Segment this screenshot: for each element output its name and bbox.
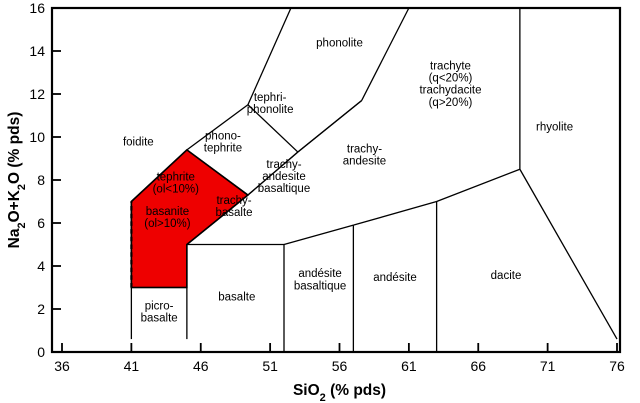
y-tick-label-0: 0 <box>37 344 45 360</box>
field-label-basanite: basanite(ol>10%) <box>144 206 191 230</box>
field-label-tephri-phonolite: tephri-phonolite <box>247 92 294 116</box>
field-label-trachyte-trachydacite: trachyte(q<20%)trachydacite(q>20%) <box>419 60 481 109</box>
field-label-tephrite: tephrite(ol<10%) <box>153 171 200 195</box>
boundary-foidite-phonolite <box>248 8 291 105</box>
x-tick-label-61: 61 <box>401 358 417 374</box>
plot-frame-layer <box>52 8 620 352</box>
x-tick-label-56: 56 <box>332 358 348 374</box>
y-axis-title: Na2O+K2O (% pds) <box>6 112 28 249</box>
x-tick-label-51: 51 <box>262 358 278 374</box>
x-tick-label-46: 46 <box>193 358 209 374</box>
y-tick-label-2: 2 <box>37 301 45 317</box>
x-tick-label-36: 36 <box>54 358 70 374</box>
y-tick-label-4: 4 <box>37 258 45 274</box>
tas-diagram-canvas: 3641465156616671760246810121416 foiditep… <box>0 0 640 403</box>
x-tick-label-41: 41 <box>124 358 140 374</box>
field-label-basalte: basalte <box>218 291 255 303</box>
field-label-foidite: foidite <box>123 137 154 149</box>
tas-diagram: 3641465156616671760246810121416 foiditep… <box>0 0 640 403</box>
field-label-phono-tephrite: phono-tephrite <box>204 131 242 155</box>
axis-tick-label-layer: 3641465156616671760246810121416 <box>29 0 625 374</box>
field-label-andesite: andésite <box>373 272 416 284</box>
field-label-phonolite: phonolite <box>316 38 363 50</box>
field-label-layer: foiditephonolitetephri-phonolitephono-te… <box>123 38 573 325</box>
field-label-rhyolite: rhyolite <box>536 122 573 134</box>
axis-tick-layer <box>52 8 617 352</box>
plot-frame <box>52 8 620 352</box>
field-label-dacite: dacite <box>491 270 522 282</box>
boundary-trachy-andesite-right <box>353 202 436 226</box>
field-label-picro-basalte: picro-basalte <box>141 300 178 324</box>
x-tick-label-71: 71 <box>540 358 556 374</box>
boundary-trachyte-lower <box>437 169 520 201</box>
boundary-rhyolite-dacite <box>520 169 617 339</box>
x-tick-label-76: 76 <box>609 358 625 374</box>
y-tick-label-14: 14 <box>29 43 45 59</box>
boundary-phonolite-lower-right <box>362 8 409 100</box>
y-tick-label-10: 10 <box>29 129 45 145</box>
y-tick-label-12: 12 <box>29 86 45 102</box>
boundary-trachy-and-bas-right <box>284 225 353 244</box>
field-label-andesite-basaltique: andésitebasaltique <box>294 268 346 292</box>
field-label-trachy-basalte: trachy-basalte <box>216 195 253 219</box>
field-label-trachy-andesite: trachy-andesite <box>343 143 386 167</box>
y-tick-label-8: 8 <box>37 172 45 188</box>
x-axis-title: SiO2 (% pds) <box>293 382 386 403</box>
field-label-trachy-andesite-basaltique: trachy-andesitebasaltique <box>258 159 310 195</box>
y-tick-label-16: 16 <box>29 0 45 16</box>
x-tick-label-66: 66 <box>470 358 486 374</box>
y-tick-label-6: 6 <box>37 215 45 231</box>
